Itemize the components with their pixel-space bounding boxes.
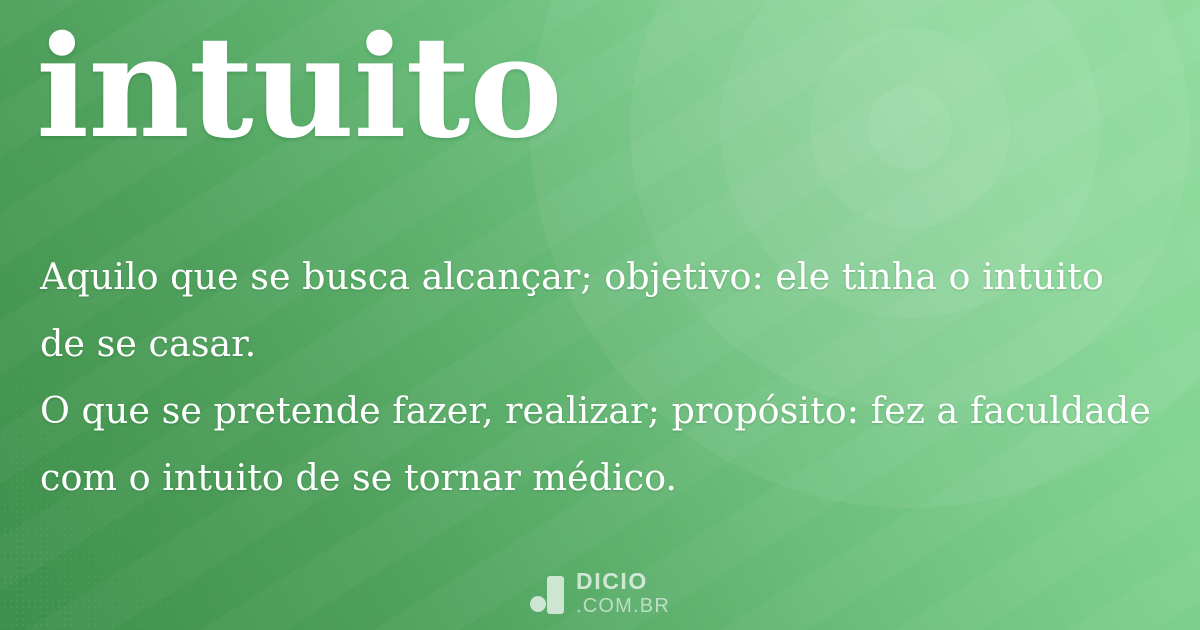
logo-mark-icon — [530, 572, 564, 614]
definition-list: Aquilo que se busca alcançar; objetivo: … — [40, 243, 1158, 511]
definition-item: O que se pretende fazer, realizar; propó… — [40, 377, 1158, 511]
logo-wordmark: DICIO .COM.BR — [576, 570, 670, 616]
definition-item: Aquilo que se busca alcançar; objetivo: … — [40, 243, 1158, 377]
logo-tld: .COM.BR — [576, 596, 670, 616]
logo-name: DICIO — [576, 570, 648, 593]
logo-dot-icon — [530, 596, 546, 612]
page-title: intuito — [36, 14, 562, 162]
logo-bar-icon — [547, 576, 564, 614]
site-logo: DICIO .COM.BR — [0, 570, 1200, 616]
definition-card: intuito Aquilo que se busca alcançar; ob… — [0, 0, 1200, 630]
card-content: intuito Aquilo que se busca alcançar; ob… — [0, 0, 1200, 630]
